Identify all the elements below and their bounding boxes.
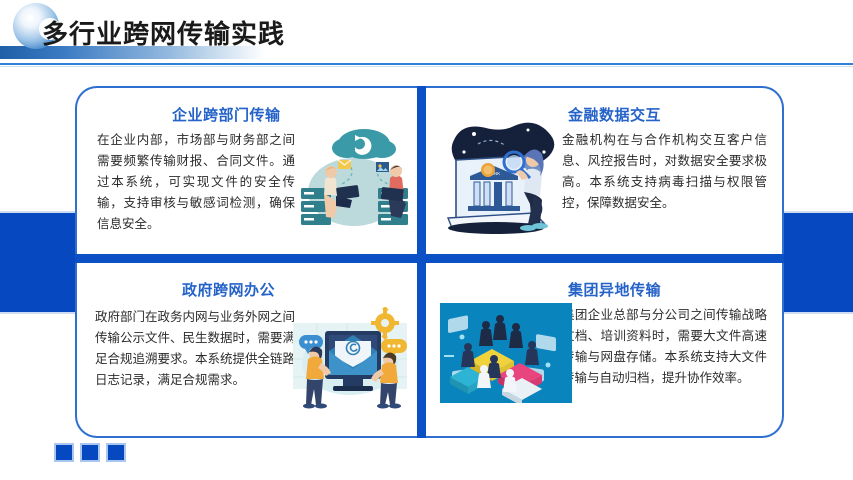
card-body-text: 在企业内部，市场部与财务部之间需要频繁传输财报、合同文件。通过本系统，可实现文件…	[97, 130, 295, 235]
monitor-email-gear-chat-illustration	[285, 307, 415, 412]
footer-dot	[108, 445, 124, 460]
card-financial-data-exchange[interactable]: 金融数据交互 金融机构在与合作机构交互客户信息、风控报告时，对数据安全要求极高。…	[426, 86, 784, 254]
page-title: 多行业跨网传输实践	[42, 14, 285, 51]
card-body-text: 金融机构在与合作机构交互客户信息、风控报告时，对数据安全要求极高。本系统支持病毒…	[562, 130, 767, 214]
slide-root: 多行业跨网传输实践 企业跨部门传输 在企业内部，市场部与财务部之间需要频繁传输财…	[0, 0, 853, 480]
card-body-text: 政府部门在政务内网与业务外网之间传输公示文件、民生数据时，需要满足合规追溯要求。…	[95, 307, 295, 391]
card-government-cross-network-office[interactable]: 政府跨网办公 政府部门在政务内网与业务外网之间传输公示文件、民生数据时，需要满足…	[75, 263, 417, 438]
footer-dots-decoration	[56, 445, 176, 461]
card-body-text: 集团企业总部与分公司之间传输战略文档、培训资料时，需要大文件高速传输与网盘存储。…	[562, 305, 767, 389]
card-enterprise-cross-department[interactable]: 企业跨部门传输 在企业内部，市场部与财务部之间需要频繁传输财报、合同文件。通过本…	[75, 86, 417, 254]
bank-laptop-magnifier-illustration: BANK	[440, 118, 565, 236]
card-group-remote-transmission[interactable]: 集团异地传输 集团企业总部与分公司之间传输战略文档、培训资料时，需要大文件高速传…	[426, 263, 784, 438]
header-rule	[0, 63, 853, 65]
grid-divider-horizontal	[75, 254, 784, 263]
grid-divider-vertical	[417, 86, 426, 438]
puzzle-teamwork-isometric-illustration	[440, 303, 572, 403]
card-title: 政府跨网办公	[182, 279, 275, 300]
slide-header: 多行业跨网传输实践	[0, 0, 853, 66]
cloud-sync-people-servers-illustration	[292, 126, 417, 231]
card-title: 企业跨部门传输	[172, 104, 281, 125]
footer-dot	[56, 445, 72, 460]
header-rule-secondary	[0, 66, 853, 67]
card-title: 集团异地传输	[568, 279, 661, 300]
card-title: 金融数据交互	[568, 104, 661, 125]
footer-dot	[82, 445, 98, 460]
